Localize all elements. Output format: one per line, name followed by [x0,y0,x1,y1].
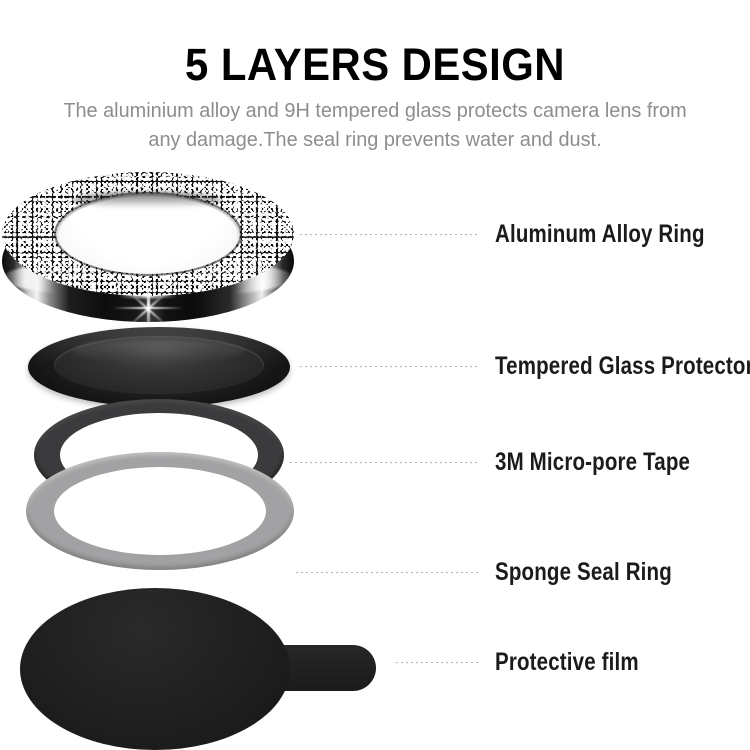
label-tempered-glass: Tempered Glass Protector [495,352,750,381]
ring-aperture-shadow [72,192,222,208]
leader-line-protective-film [396,661,480,663]
subtitle-line-2: any damage.The seal ring prevents water … [11,125,739,154]
sponge-ring-hole [54,467,266,555]
leader-line-aluminum-alloy-ring [300,233,480,235]
leader-line-tempered-glass [300,365,480,367]
infographic-canvas: 5 LAYERS DESIGN The aluminium alloy and … [0,0,750,750]
layer-protective-film [20,588,380,750]
layer-sponge-seal-ring [26,452,294,570]
film-disc [20,588,290,750]
glass-highlight [72,339,244,363]
layer-aluminum-alloy-ring [2,172,294,322]
subtitle-line-1: The aluminium alloy and 9H tempered glas… [63,99,686,122]
label-micro-pore-tape: 3M Micro-pore Tape [495,448,690,477]
leader-line-sponge-seal-ring [296,571,480,573]
page-title: 5 LAYERS DESIGN [26,42,724,88]
leader-line-micro-pore-tape [290,461,480,463]
label-sponge-seal-ring: Sponge Seal Ring [495,558,672,587]
layer-tempered-glass [28,327,290,407]
label-aluminum-alloy-ring: Aluminum Alloy Ring [495,220,705,249]
label-protective-film: Protective film [495,648,639,677]
page-subtitle: The aluminium alloy and 9H tempered glas… [11,96,739,154]
